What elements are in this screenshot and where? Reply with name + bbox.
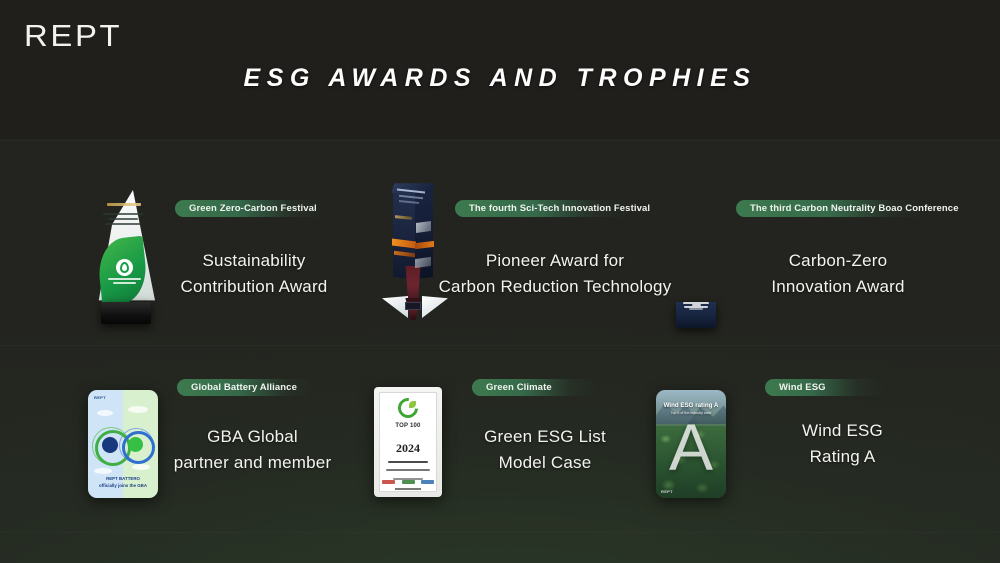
certificate-year: 2024 — [374, 442, 442, 454]
card-caption: REPT BATTERO officially joins the GBA — [88, 475, 158, 489]
awards-row-2: REPT REPT BATTERO officially joins the G… — [0, 368, 1000, 538]
award-caption: Pioneer Award for Carbon Reduction Techn… — [420, 248, 690, 300]
award-card-wind-esg-rating[interactable]: A Wind ESG rating A Top 5 of the industr… — [650, 368, 990, 538]
award-title-line1: GBA Global — [145, 424, 360, 450]
award-title-line2: Innovation Award — [730, 274, 946, 300]
award-tag-carbon-neutrality-boao-conference: The third Carbon Neutrality Boao Confere… — [736, 200, 926, 217]
award-tag-global-battery-alliance: Global Battery Alliance — [177, 379, 312, 396]
background-divider-top — [0, 140, 1000, 141]
awards-row-1: Green Zero-Carbon Festival Sustainabilit… — [0, 178, 1000, 348]
gold-marble-column-trophy-artwork — [665, 178, 727, 333]
award-tag-label: Green Climate — [486, 382, 552, 393]
award-title-line1: Sustainability — [148, 248, 360, 274]
award-card-carbon-zero-innovation[interactable]: The third Carbon Neutrality Boao Confere… — [660, 178, 990, 348]
card-caption-line1: REPT BATTERO — [88, 475, 158, 482]
page-title: ESG AWARDS AND TROPHIES — [0, 64, 1000, 93]
award-title-line1: Wind ESG — [760, 418, 925, 444]
card-brand-label: REPT — [661, 489, 673, 494]
award-title-line2: partner and member — [145, 450, 360, 476]
award-title-line1: Green ESG List — [455, 424, 635, 450]
award-tag-label: The fourth Sci-Tech Innovation Festival — [469, 203, 650, 214]
award-card-sustainability-contribution[interactable]: Green Zero-Carbon Festival Sustainabilit… — [70, 178, 360, 348]
card-headline: Wind ESG rating A — [656, 402, 726, 409]
card-caption-line2: officially joins the GBA — [88, 482, 158, 489]
award-caption: Carbon-Zero Innovation Award — [730, 248, 946, 300]
award-tag-green-climate: Green Climate — [472, 379, 597, 396]
certificate-headline: TOP 100 — [374, 423, 442, 429]
award-caption: Sustainability Contribution Award — [148, 248, 360, 300]
award-title-line2: Model Case — [455, 450, 635, 476]
award-title-line1: Carbon-Zero — [730, 248, 946, 274]
rept-logo: REPT — [24, 20, 122, 51]
award-tag-sci-tech-innovation-festival: The fourth Sci-Tech Innovation Festival — [455, 200, 630, 217]
award-title-line2: Rating A — [760, 444, 925, 470]
award-title-line1: Pioneer Award for — [420, 248, 690, 274]
award-card-gba-global-partner[interactable]: REPT REPT BATTERO officially joins the G… — [70, 368, 360, 538]
award-tag-label: Wind ESG — [779, 382, 826, 393]
wind-esg-rating-card-artwork: A Wind ESG rating A Top 5 of the industr… — [656, 390, 726, 498]
top100-certificate-artwork: TOP 100 2024 — [374, 387, 442, 497]
award-tag-label: Global Battery Alliance — [191, 382, 297, 393]
award-caption: Wind ESG Rating A — [760, 418, 925, 470]
award-caption: GBA Global partner and member — [145, 424, 360, 476]
award-card-pioneer-carbon-reduction[interactable]: The fourth Sci-Tech Innovation Festival … — [370, 178, 660, 348]
award-title-line2: Carbon Reduction Technology — [420, 274, 690, 300]
award-title-line2: Contribution Award — [148, 274, 360, 300]
award-card-green-esg-list[interactable]: TOP 100 2024 Green Climate Green ESG Lis… — [360, 368, 650, 538]
award-tag-label: Green Zero-Carbon Festival — [189, 203, 317, 214]
card-brand-label: REPT — [94, 395, 106, 400]
rating-grade-letter: A — [656, 414, 726, 480]
award-tag-green-zero-carbon-festival: Green Zero-Carbon Festival — [175, 200, 325, 217]
award-tag-label: The third Carbon Neutrality Boao Confere… — [750, 203, 959, 214]
award-tag-wind-esg: Wind ESG — [765, 379, 885, 396]
award-caption: Green ESG List Model Case — [455, 424, 635, 476]
card-subhead: Top 5 of the industry wide — [656, 411, 726, 415]
slide-canvas: REPT ESG AWARDS AND TROPHIES Green Zero-… — [0, 0, 1000, 563]
